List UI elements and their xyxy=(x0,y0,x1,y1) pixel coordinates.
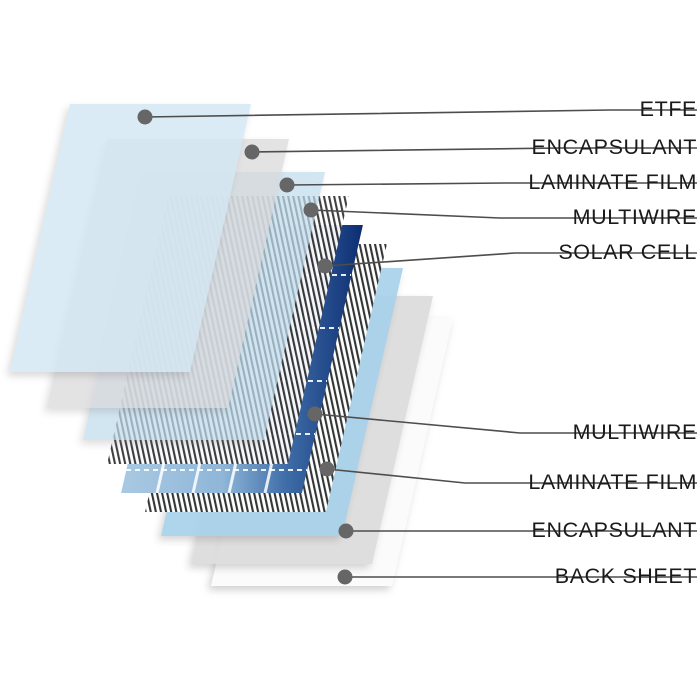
label-solar-cell: SOLAR CELL xyxy=(558,242,697,264)
callout-dot-multiwire-top xyxy=(304,203,319,218)
label-encapsulant-top: ENCAPSULANT xyxy=(532,137,698,159)
solar-panel-layer-diagram: ETFE ENCAPSULANT LAMINATE FILM MULTIWIRE… xyxy=(0,0,700,700)
callout-dot-back-sheet xyxy=(338,570,353,585)
callout-dot-laminate-film-bottom xyxy=(320,462,335,477)
callout-dot-encapsulant-bottom xyxy=(339,524,354,539)
callout-dot-solar-cell xyxy=(318,259,333,274)
label-laminate-film-bottom: LAMINATE FILM xyxy=(528,472,697,494)
callout-dot-multiwire-bottom xyxy=(308,407,323,422)
label-laminate-film-top: LAMINATE FILM xyxy=(528,172,697,194)
label-multiwire-top: MULTIWIRE xyxy=(573,207,697,229)
label-back-sheet: BACK SHEET xyxy=(555,566,697,588)
callout-dot-laminate-film-top xyxy=(280,178,295,193)
layer-group xyxy=(10,104,453,586)
label-encapsulant-bottom: ENCAPSULANT xyxy=(532,520,698,542)
callout-dot-encapsulant-top xyxy=(245,145,260,160)
diagram-canvas xyxy=(0,0,700,700)
callout-dot-etfe xyxy=(138,110,153,125)
label-multiwire-bottom: MULTIWIRE xyxy=(573,422,697,444)
label-etfe: ETFE xyxy=(640,99,697,121)
